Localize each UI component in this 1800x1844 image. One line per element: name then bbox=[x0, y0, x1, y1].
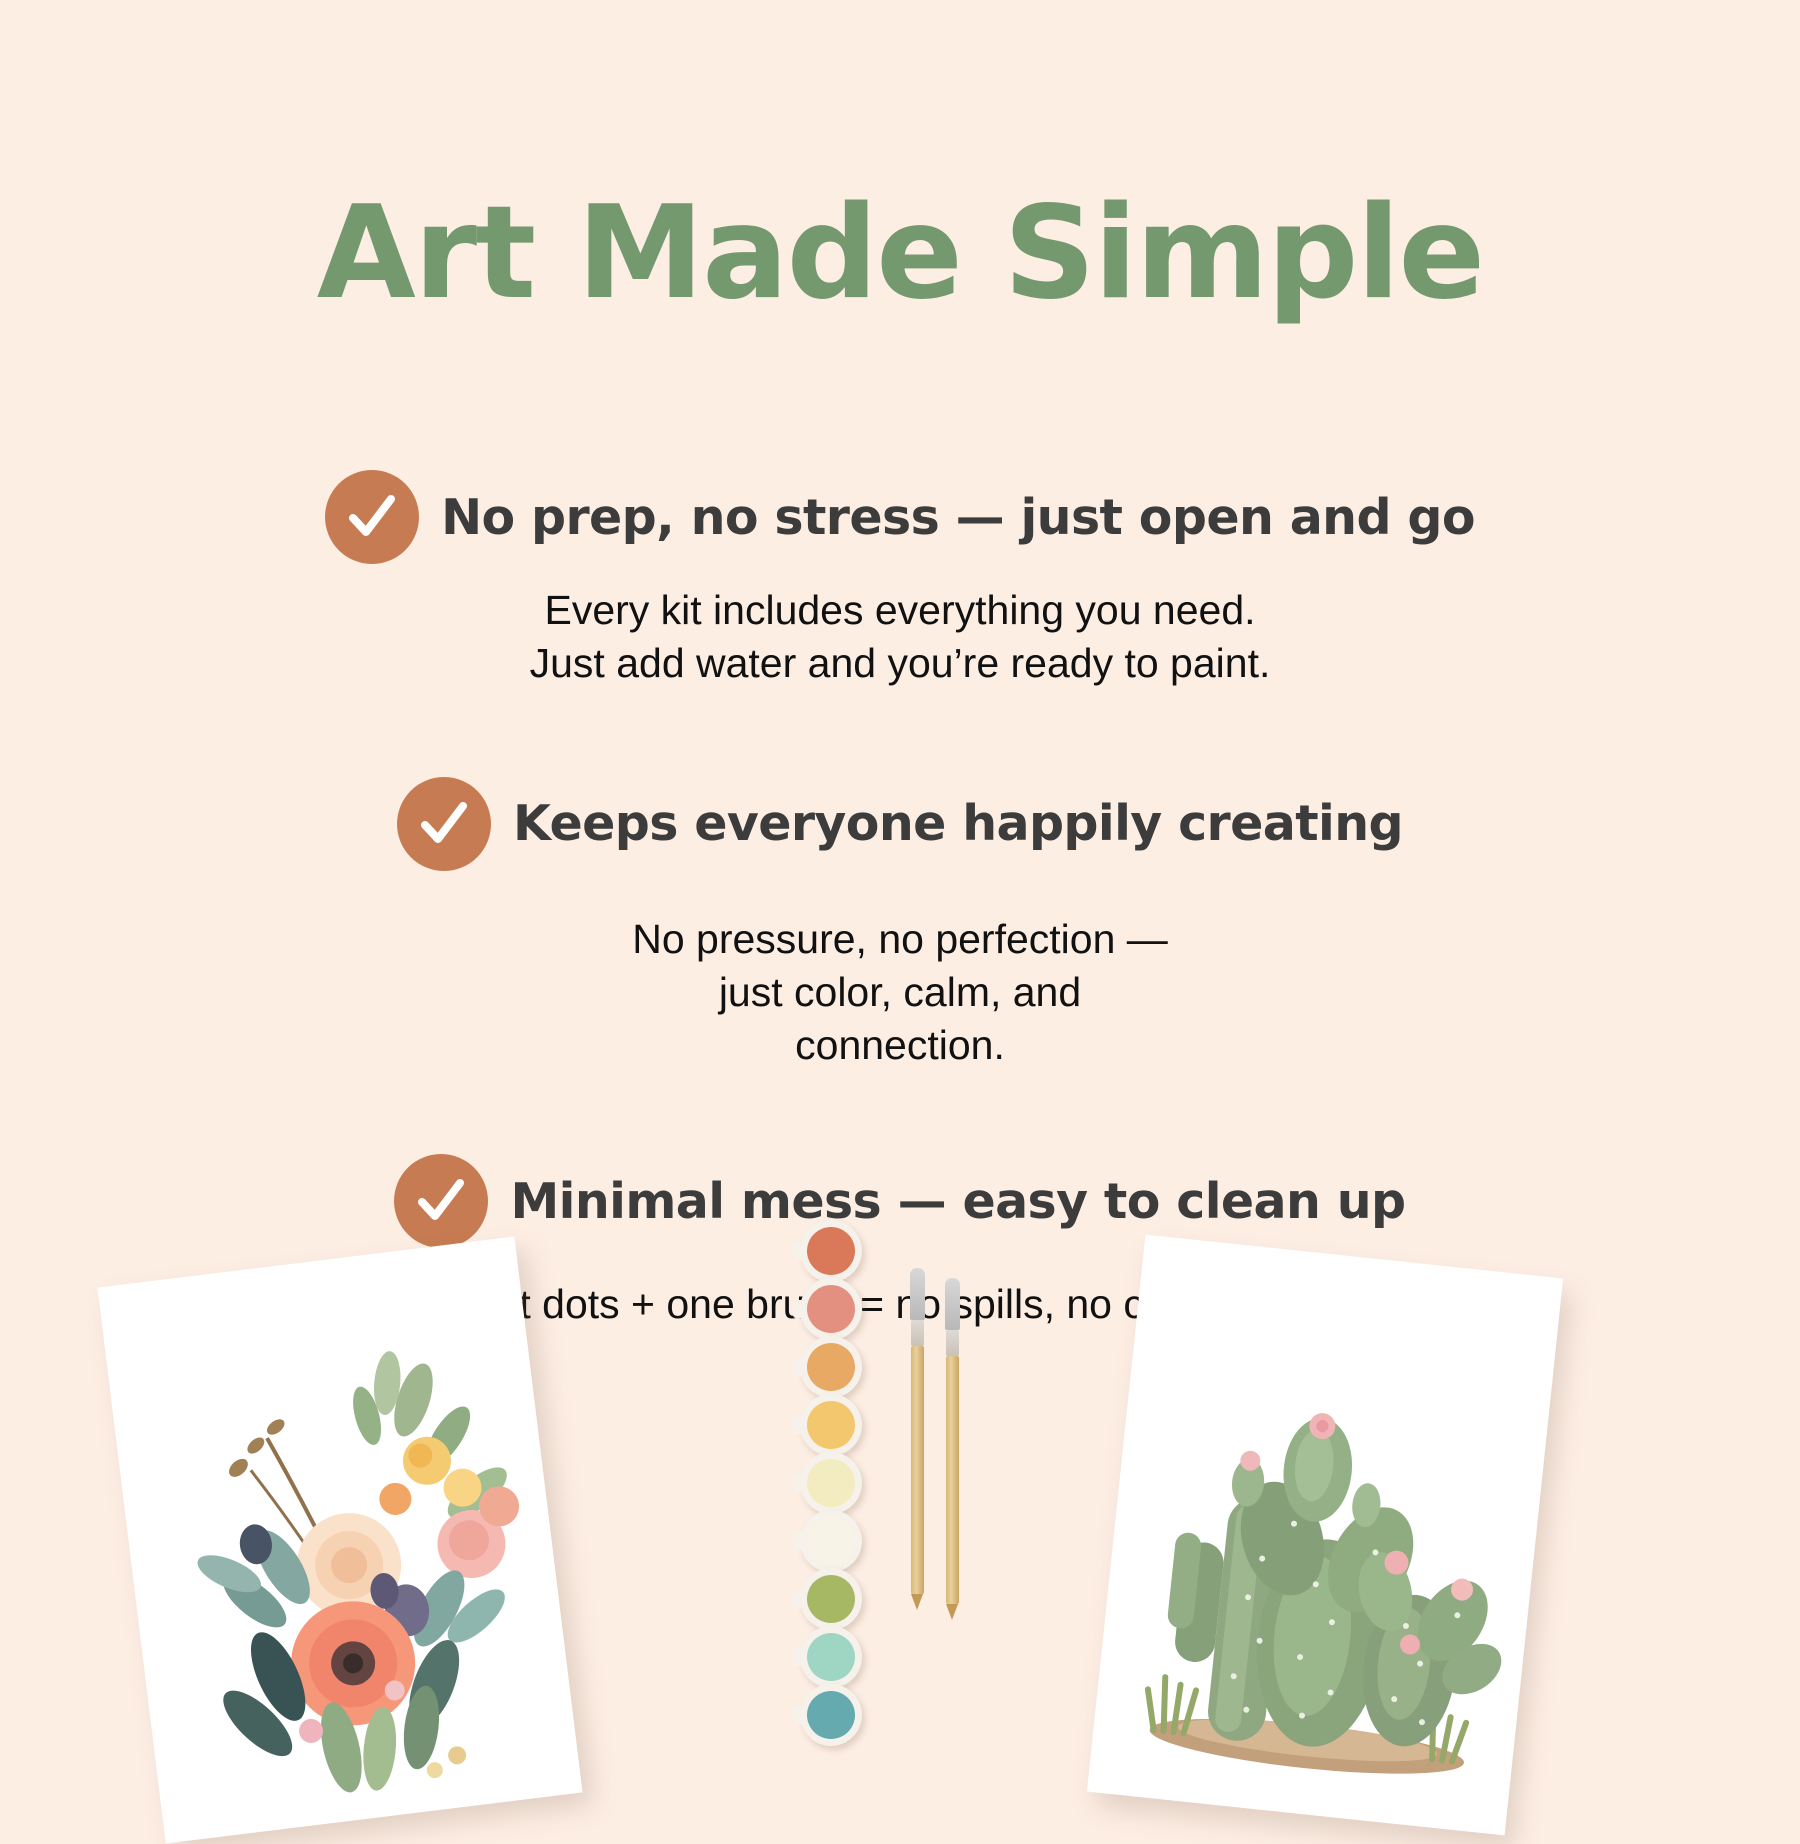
check-circle-icon bbox=[325, 470, 419, 564]
benefit-body-line: connection. bbox=[0, 1019, 1800, 1072]
page-title: Art Made Simple bbox=[0, 190, 1800, 318]
cactus-painting-card bbox=[1087, 1235, 1563, 1836]
benefit-item-2: Keeps everyone happily creating No press… bbox=[0, 777, 1800, 1073]
paint-dot bbox=[800, 1568, 862, 1630]
benefit-body-line: Just add water and you’re ready to paint… bbox=[0, 637, 1800, 690]
paint-dot bbox=[800, 1510, 862, 1572]
poster: Art Made Simple No prep, no stress — jus… bbox=[0, 0, 1800, 1800]
benefits-list: No prep, no stress — just open and go Ev… bbox=[0, 470, 1800, 1332]
product-photo-area bbox=[0, 1230, 1800, 1800]
benefit-heading: Keeps everyone happily creating bbox=[513, 795, 1403, 852]
benefit-item-1: No prep, no stress — just open and go Ev… bbox=[0, 470, 1800, 691]
paintbrush-icon bbox=[910, 1268, 925, 1610]
paint-dot bbox=[800, 1684, 862, 1746]
benefit-body-line: No pressure, no perfection — bbox=[0, 913, 1800, 966]
paint-dot bbox=[800, 1336, 862, 1398]
paint-dot bbox=[800, 1394, 862, 1456]
checkmark-icon bbox=[413, 793, 475, 855]
paint-dot bbox=[800, 1626, 862, 1688]
watercolor-cactus-icon bbox=[1087, 1235, 1563, 1836]
paint-dot bbox=[800, 1452, 862, 1514]
checkmark-icon bbox=[341, 486, 403, 548]
paintbrush-icon bbox=[945, 1278, 960, 1620]
benefit-body-line: Every kit includes everything you need. bbox=[0, 584, 1800, 637]
benefit-body-line: just color, calm, and bbox=[0, 966, 1800, 1019]
paint-dot bbox=[800, 1278, 862, 1340]
benefit-body: No pressure, no perfection — just color,… bbox=[0, 913, 1800, 1073]
checkmark-icon bbox=[410, 1170, 472, 1232]
benefit-heading: No prep, no stress — just open and go bbox=[441, 489, 1475, 546]
paint-palette-strip bbox=[800, 1220, 870, 1742]
paint-dot bbox=[800, 1220, 862, 1282]
check-circle-icon bbox=[397, 777, 491, 871]
floral-painting-card bbox=[97, 1236, 582, 1843]
benefit-body: Every kit includes everything you need. … bbox=[0, 584, 1800, 691]
watercolor-floral-bouquet-icon bbox=[97, 1236, 582, 1843]
benefit-heading: Minimal mess — easy to clean up bbox=[510, 1173, 1405, 1230]
